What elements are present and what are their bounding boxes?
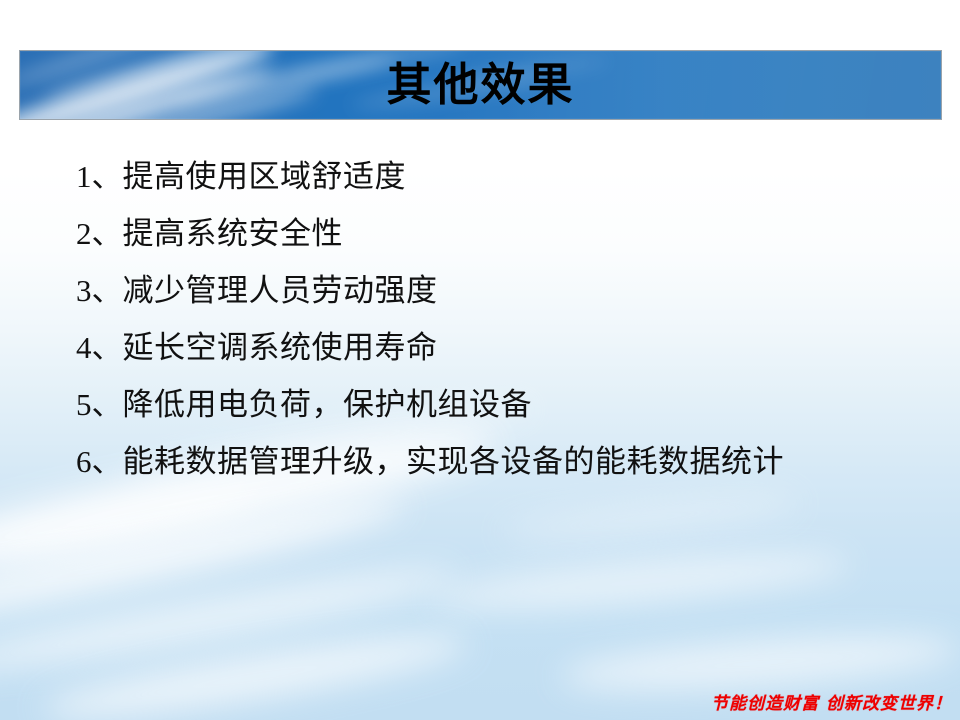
list-item-number: 4、 — [76, 319, 123, 376]
list-item: 6、 能耗数据管理升级，实现各设备的能耗数据统计 — [76, 433, 916, 490]
slide-title: 其他效果 — [20, 51, 941, 119]
list-item: 2、 提高系统安全性 — [76, 205, 916, 262]
title-banner: 其他效果 — [19, 50, 942, 120]
list-item-number: 1、 — [76, 148, 123, 205]
footer-slogan: 节能创造财富 创新改变世界！ — [711, 689, 952, 714]
bullet-list: 1、 提高使用区域舒适度 2、 提高系统安全性 3、 减少管理人员劳动强度 4、… — [76, 148, 916, 490]
list-item-number: 2、 — [76, 205, 123, 262]
list-item-number: 5、 — [76, 376, 123, 433]
list-item: 1、 提高使用区域舒适度 — [76, 148, 916, 205]
list-item-number: 6、 — [76, 433, 123, 490]
list-item-label: 能耗数据管理升级，实现各设备的能耗数据统计 — [123, 433, 785, 490]
list-item: 3、 减少管理人员劳动强度 — [76, 262, 916, 319]
list-item: 4、 延长空调系统使用寿命 — [76, 319, 916, 376]
list-item-label: 提高使用区域舒适度 — [123, 148, 407, 205]
presentation-slide: 其他效果 1、 提高使用区域舒适度 2、 提高系统安全性 3、 减少管理人员劳动… — [0, 0, 960, 720]
list-item-label: 提高系统安全性 — [123, 205, 344, 262]
list-item-label: 降低用电负荷，保护机组设备 — [123, 376, 533, 433]
list-item-number: 3、 — [76, 262, 123, 319]
list-item-label: 减少管理人员劳动强度 — [123, 262, 438, 319]
list-item: 5、 降低用电负荷，保护机组设备 — [76, 376, 916, 433]
list-item-label: 延长空调系统使用寿命 — [123, 319, 438, 376]
